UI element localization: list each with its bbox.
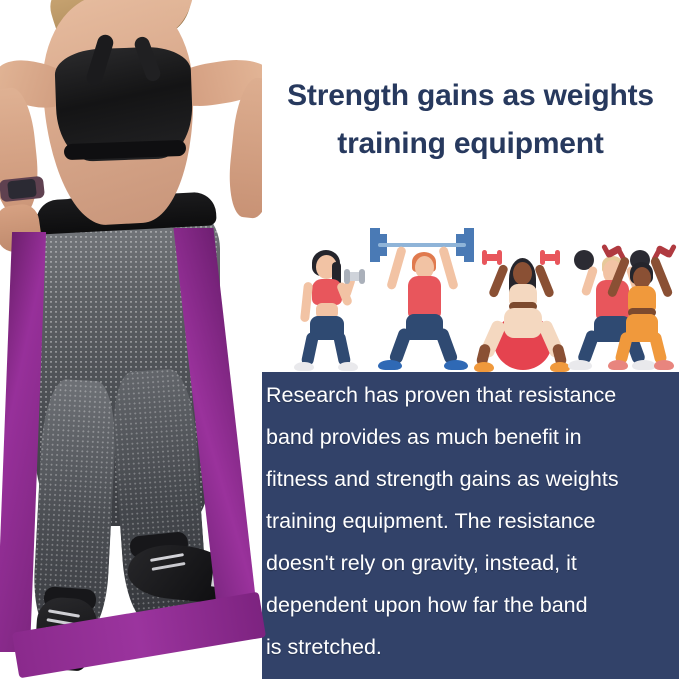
right-shoe: [444, 360, 468, 370]
smart-watch-face: [7, 179, 37, 200]
body-line: training equipment. The resistance: [266, 500, 676, 542]
headline-line-1: Strength gains as weights: [262, 72, 679, 120]
headline-line-2: training equipment: [262, 120, 679, 168]
figure-woman-with-dumbbell: [288, 246, 362, 372]
left-arm: [300, 282, 313, 323]
dumbbell-right-plate: [666, 244, 677, 259]
left-arm: [386, 246, 407, 291]
barbell-bar: [378, 243, 466, 247]
right-shoe: [654, 360, 674, 370]
leggings: [504, 308, 542, 338]
left-shoe: [568, 360, 592, 370]
dumbbell-left-plate: [482, 250, 487, 265]
left-arm: [488, 264, 509, 299]
right-arm: [534, 264, 555, 299]
body-line: Research has proven that resistance: [266, 374, 676, 416]
dumbbell-right-plate: [540, 250, 545, 265]
left-shoe: [474, 362, 494, 372]
head: [513, 262, 532, 285]
dumbbell-plate: [359, 269, 365, 284]
body-line: doesn't rely on gravity, instead, it: [266, 542, 676, 584]
body-paragraph: Research has proven that resistance band…: [266, 374, 676, 668]
right-shoe: [550, 362, 570, 372]
left-arm: [606, 256, 630, 298]
figure-woman-on-exercise-ball: [476, 236, 568, 372]
left-shoe: [378, 360, 402, 370]
left-shoe: [608, 360, 628, 370]
body-line: is stretched.: [266, 626, 676, 668]
body-line: fitness and strength gains as weights: [266, 458, 676, 500]
body-line: band provides as much benefit in: [266, 416, 676, 458]
headline: Strength gains as weights training equip…: [262, 72, 679, 168]
figure-woman-arms-raised: [600, 236, 679, 372]
dumbbell-plate: [344, 269, 350, 284]
dumbbell-right-plate: [555, 250, 560, 265]
right-shoe: [338, 362, 358, 371]
infographic-root: Strength gains as weights training equip…: [0, 0, 679, 679]
tank-top: [408, 276, 441, 318]
fitness-figures-illustration: [280, 214, 679, 372]
dumbbell-left-plate: [497, 250, 502, 265]
figure-man-overhead-press: [368, 220, 478, 372]
left-shoe: [294, 362, 314, 371]
body-line: dependent upon how far the band: [266, 584, 676, 626]
